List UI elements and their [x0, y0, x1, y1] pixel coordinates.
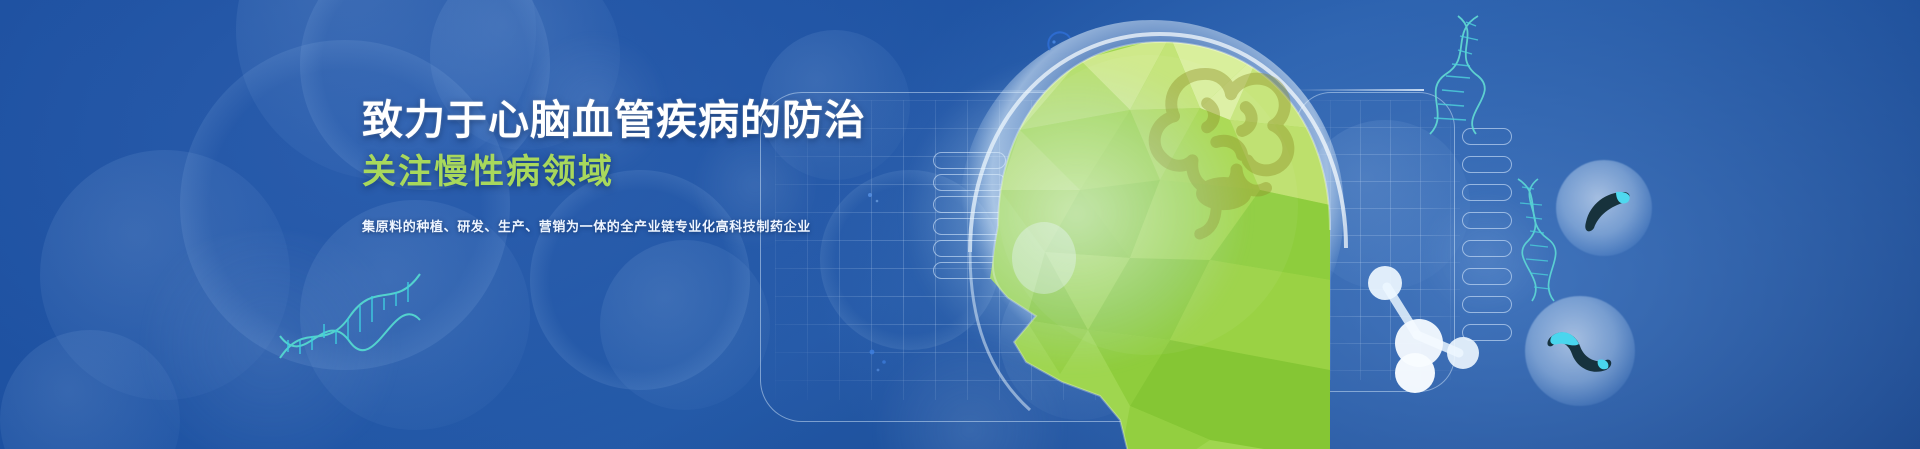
bacterium-icon: [1546, 320, 1616, 386]
particle-icon: [1042, 28, 1082, 68]
dna-helix-icon: [270, 258, 430, 378]
bokeh-circle: [120, 230, 420, 449]
dna-helix-icon: [1420, 10, 1500, 140]
molecule-icon: [1355, 255, 1485, 395]
subtitle: 关注慢性病领域: [362, 152, 982, 192]
page-title: 致力于心脑血管疾病的防治: [362, 96, 982, 144]
bokeh-circle: [600, 240, 770, 410]
hero-banner: 致力于心脑血管疾病的防治 关注慢性病领域 集原料的种植、研发、生产、营销为一体的…: [0, 0, 1920, 449]
bokeh-circle: [40, 150, 290, 400]
banner-copy: 致力于心脑血管疾病的防治 关注慢性病领域 集原料的种植、研发、生产、营销为一体的…: [362, 96, 982, 237]
bokeh-circle: [0, 330, 180, 449]
particle-icon: [862, 340, 902, 380]
hud-list-item: [1462, 212, 1512, 229]
bacterium-icon: [1576, 182, 1636, 238]
hud-list-item: [1462, 128, 1512, 145]
tagline: 集原料的种植、研发、生产、营销为一体的全产业链专业化高科技制药企业: [362, 217, 982, 237]
hud-list-item: [1462, 156, 1512, 173]
hud-list-item: [1462, 184, 1512, 201]
